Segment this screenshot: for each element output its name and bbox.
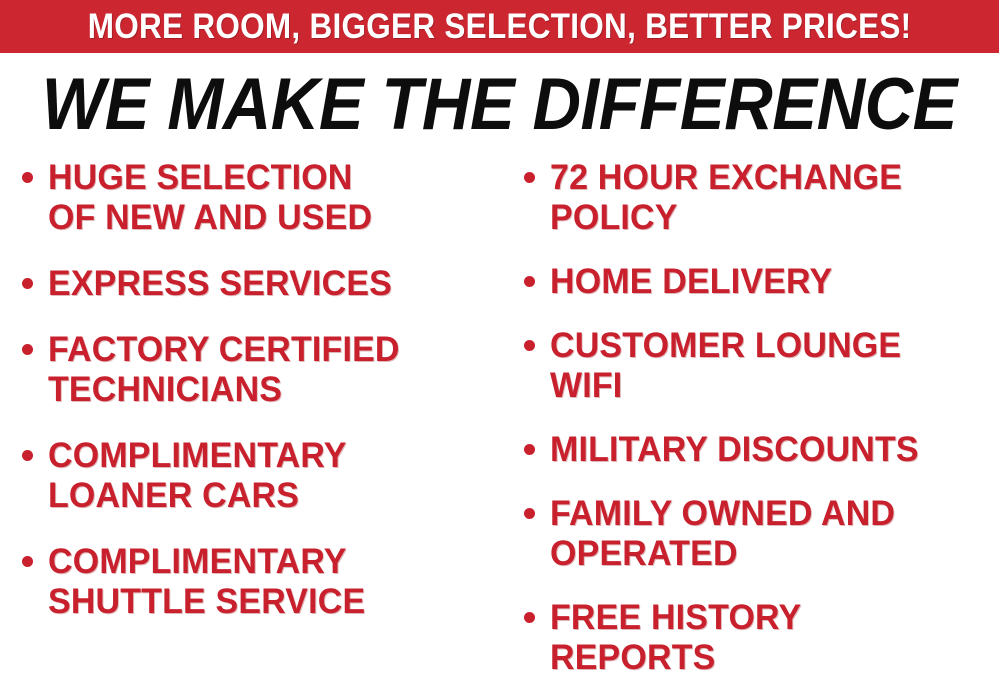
bullet-dot-icon bbox=[22, 172, 33, 183]
list-item-line1: HUGE SELECTION bbox=[48, 158, 353, 197]
bullet-dot-icon bbox=[524, 340, 535, 351]
list-item-line2: WIFI bbox=[550, 366, 622, 405]
bullet-dot-icon bbox=[524, 444, 535, 455]
bullet-dot-icon bbox=[524, 612, 535, 623]
list-item: HOME DELIVERY bbox=[512, 262, 999, 302]
list-item-label: FACTORY CERTIFIEDTECHNICIANS bbox=[48, 330, 400, 410]
list-item-line2: OF NEW AND USED bbox=[48, 198, 372, 237]
list-item-label: 72 HOUR EXCHANGEPOLICY bbox=[550, 158, 902, 238]
banner-headline-text: MORE ROOM, BIGGER SELECTION, BETTER PRIC… bbox=[88, 9, 912, 44]
list-item-line1: HOME DELIVERY bbox=[550, 262, 832, 301]
bullet-dot-icon bbox=[524, 508, 535, 519]
list-item-line2: POLICY bbox=[550, 198, 678, 237]
list-item: COMPLIMENTARYLOANER CARS bbox=[12, 436, 498, 516]
bullet-dot-icon bbox=[22, 278, 33, 289]
bullet-dot-icon bbox=[524, 276, 535, 287]
list-item-line2: TECHNICIANS bbox=[48, 370, 282, 409]
list-item-label: COMPLIMENTARYLOANER CARS bbox=[48, 436, 347, 516]
list-item: HUGE SELECTIONOF NEW AND USED bbox=[12, 158, 498, 238]
list-item-label: EXPRESS SERVICES bbox=[48, 264, 392, 304]
list-item: 72 HOUR EXCHANGEPOLICY bbox=[512, 158, 999, 238]
bullet-dot-icon bbox=[22, 344, 33, 355]
list-item: FREE HISTORYREPORTS bbox=[512, 598, 999, 678]
list-item-line1: 72 HOUR EXCHANGE bbox=[550, 158, 902, 197]
list-item-line2: OPERATED bbox=[550, 534, 738, 573]
list-item-line1: MILITARY DISCOUNTS bbox=[550, 430, 919, 469]
list-item: MILITARY DISCOUNTS bbox=[512, 430, 999, 470]
list-item-line1: FREE HISTORY bbox=[550, 598, 801, 637]
list-item-label: CUSTOMER LOUNGEWIFI bbox=[550, 326, 901, 406]
benefits-column-right: 72 HOUR EXCHANGEPOLICY HOME DELIVERY CUS… bbox=[512, 158, 999, 692]
bullet-dot-icon bbox=[524, 172, 535, 183]
headline-container: WE MAKE THE DIFFERENCE bbox=[0, 62, 999, 146]
list-item-line1: COMPLIMENTARY bbox=[48, 436, 347, 475]
list-item: EXPRESS SERVICES bbox=[12, 264, 498, 304]
benefits-columns: HUGE SELECTIONOF NEW AND USED EXPRESS SE… bbox=[0, 158, 999, 692]
list-item-line1: FAMILY OWNED AND bbox=[550, 494, 895, 533]
list-item: CUSTOMER LOUNGEWIFI bbox=[512, 326, 999, 406]
bullet-dot-icon bbox=[22, 556, 33, 567]
list-item-label: HUGE SELECTIONOF NEW AND USED bbox=[48, 158, 372, 238]
promotional-poster: MORE ROOM, BIGGER SELECTION, BETTER PRIC… bbox=[0, 0, 999, 692]
list-item: COMPLIMENTARYSHUTTLE SERVICE bbox=[12, 542, 498, 622]
list-item-line1: EXPRESS SERVICES bbox=[48, 264, 392, 303]
list-item-line1: COMPLIMENTARY bbox=[48, 542, 347, 581]
list-item-label: MILITARY DISCOUNTS bbox=[550, 430, 919, 470]
list-item-label: FREE HISTORYREPORTS bbox=[550, 598, 801, 678]
list-item-label: HOME DELIVERY bbox=[550, 262, 832, 302]
list-item-line1: CUSTOMER LOUNGE bbox=[550, 326, 901, 365]
list-item: FACTORY CERTIFIEDTECHNICIANS bbox=[12, 330, 498, 410]
list-item-label: COMPLIMENTARYSHUTTLE SERVICE bbox=[48, 542, 365, 622]
list-item-line2: SHUTTLE SERVICE bbox=[48, 582, 365, 621]
top-banner: MORE ROOM, BIGGER SELECTION, BETTER PRIC… bbox=[0, 0, 999, 53]
list-item-line2: REPORTS bbox=[550, 638, 715, 677]
list-item-label: FAMILY OWNED ANDOPERATED bbox=[550, 494, 895, 574]
list-item-line1: FACTORY CERTIFIED bbox=[48, 330, 400, 369]
list-item-line2: LOANER CARS bbox=[48, 476, 299, 515]
main-headline: WE MAKE THE DIFFERENCE bbox=[42, 68, 957, 141]
benefits-column-left: HUGE SELECTIONOF NEW AND USED EXPRESS SE… bbox=[12, 158, 498, 648]
bullet-dot-icon bbox=[22, 450, 33, 461]
list-item: FAMILY OWNED ANDOPERATED bbox=[512, 494, 999, 574]
